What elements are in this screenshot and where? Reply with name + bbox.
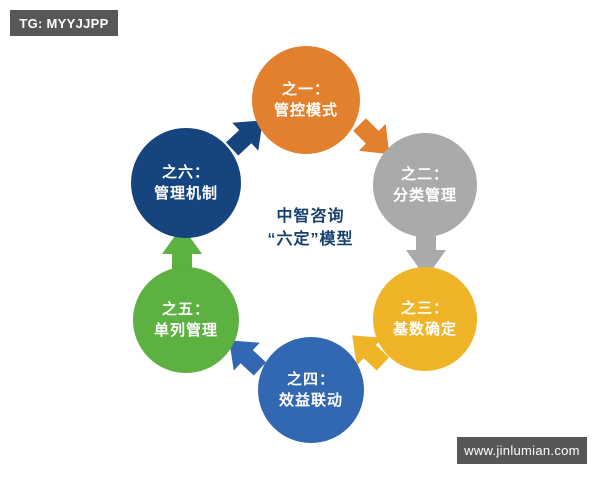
center-caption: 中智咨询 “六定”模型 <box>238 205 383 251</box>
node-title: 之五： <box>162 300 210 319</box>
node-xiaoyi-liandong[interactable]: 之四： 效益联动 <box>258 337 364 443</box>
node-label: 管理机制 <box>154 184 218 203</box>
six-fixed-model-cycle-diagram: 之一： 管控模式 之二： 分类管理 之三： 基数确定 之四： 效益联动 之五： … <box>0 0 600 480</box>
node-label: 单列管理 <box>154 321 218 340</box>
node-fenlei-guanli[interactable]: 之二： 分类管理 <box>373 133 477 237</box>
node-title: 之二： <box>401 165 449 184</box>
node-guanli-jizhi[interactable]: 之六： 管理机制 <box>131 128 241 238</box>
node-guankong-moshi[interactable]: 之一： 管控模式 <box>252 46 360 154</box>
node-jishu-queding[interactable]: 之三： 基数确定 <box>373 267 477 371</box>
node-label: 基数确定 <box>393 320 457 339</box>
node-title: 之六： <box>162 163 210 182</box>
node-title: 之一： <box>282 80 330 99</box>
node-label: 管控模式 <box>274 101 338 120</box>
node-label: 分类管理 <box>393 186 457 205</box>
node-title: 之三： <box>401 299 449 318</box>
node-label: 效益联动 <box>279 391 343 410</box>
watermark-url-bottom: www.jinlumian.com <box>457 437 587 464</box>
diagram-canvas: TG: MYYJJPP <box>0 0 600 480</box>
node-title: 之四： <box>287 370 335 389</box>
center-caption-line1: 中智咨询 <box>238 205 383 228</box>
center-caption-line2: “六定”模型 <box>238 228 383 251</box>
node-danlie-guanli[interactable]: 之五： 单列管理 <box>133 267 239 373</box>
